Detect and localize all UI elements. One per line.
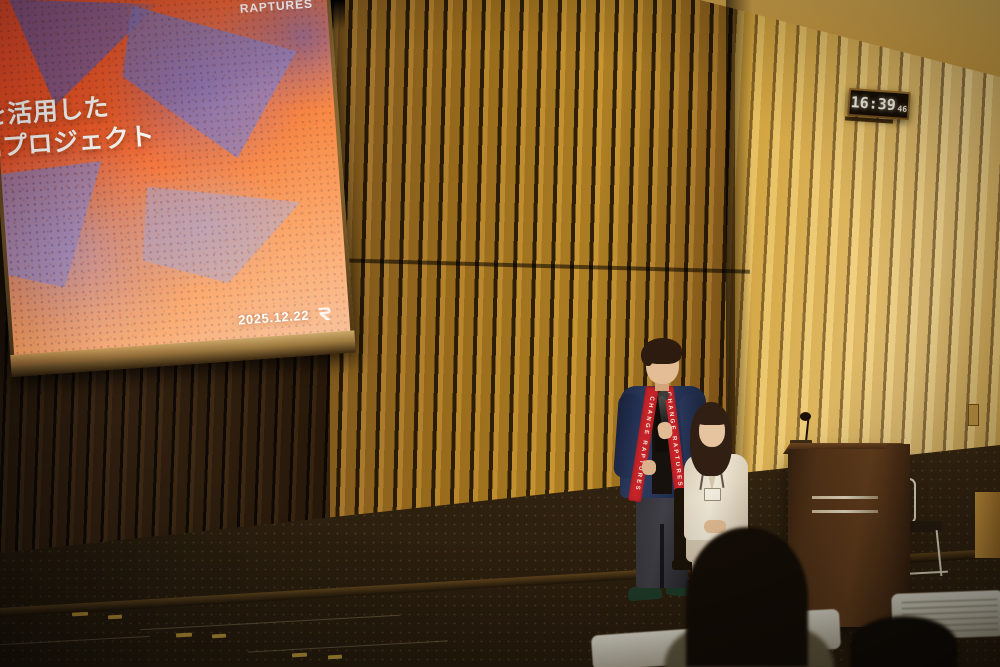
floor-tape-marker [328,655,342,660]
side-cabinet [975,492,1000,558]
slide-dither-texture [0,0,350,357]
slide-canvas: ス を活用した 共創プロジェクト CHANGE RAPTURES 2025.12… [0,0,350,357]
wall-switch-plate [968,404,979,426]
guest-hair-fringe [696,410,728,425]
clock-display: 16:39 46 [849,90,909,118]
podium-accent-stripe [812,496,878,499]
clock-seconds: 46 [897,104,907,114]
guest-hands [704,520,726,533]
presentation-hall-photo: ス を活用した 共創プロジェクト CHANGE RAPTURES 2025.12… [0,0,1000,667]
floor-tape-marker [176,633,192,638]
podium-microphone-head [800,412,811,421]
podium-accent-stripe [812,510,878,513]
wall-clock: 16:39 46 [847,88,911,120]
speaker-hand-lower [642,460,656,475]
floor-tape-marker [108,615,122,620]
brand-r-mark [315,305,333,323]
projection-screen: ス を活用した 共創プロジェクト CHANGE RAPTURES 2025.12… [0,0,357,389]
audience-member-head [686,527,808,667]
floor-tape-marker [212,634,226,639]
clock-hours-minutes: 16:39 [850,93,896,114]
audience-member-head [850,616,958,667]
guest-name-badge [704,488,721,501]
speaker-hair-side [641,346,653,366]
screen-frame: ス を活用した 共創プロジェクト CHANGE RAPTURES 2025.12… [0,0,356,377]
speaker-leg-gap [660,524,664,588]
floor-tape-marker [292,653,307,658]
